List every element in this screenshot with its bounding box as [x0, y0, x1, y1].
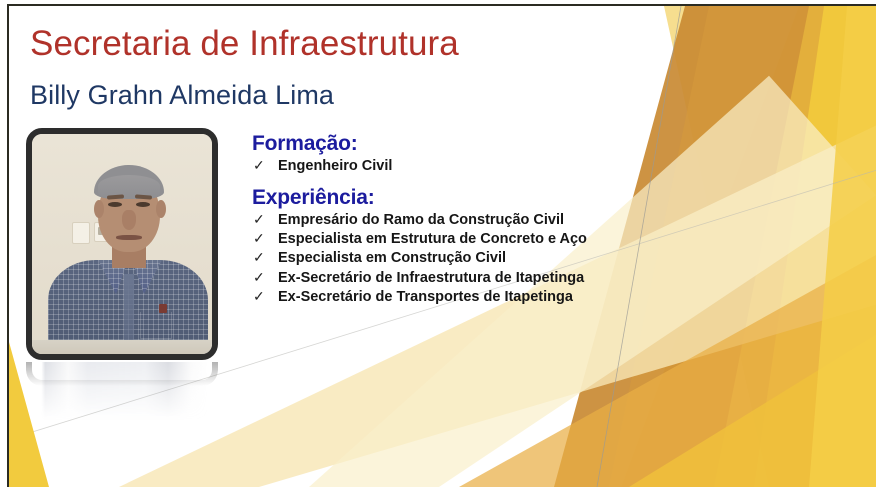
slide-root: Secretaria de Infraestrutura Billy Grahn…	[0, 0, 877, 487]
list-item-label: Engenheiro Civil	[278, 158, 392, 174]
reflection-body	[26, 362, 218, 420]
list-item-label: Especialista em Estrutura de Concreto e …	[278, 231, 587, 247]
check-icon: ✓	[253, 210, 265, 229]
list-item: ✓ Especialista em Construção Civil	[252, 249, 652, 268]
portrait-photo-reflection	[26, 362, 218, 420]
formacao-list: ✓ Engenheiro Civil	[252, 157, 652, 176]
shirt-pocket	[140, 312, 172, 339]
check-icon: ✓	[253, 156, 265, 175]
section-heading-experiencia: Experiência:	[252, 186, 652, 209]
list-item: ✓ Ex-Secretário de Transportes de Itapet…	[252, 288, 652, 307]
desk-surface	[32, 340, 212, 354]
shirt-logo	[159, 304, 167, 313]
portrait-photo-image	[32, 134, 212, 354]
list-item-label: Ex-Secretário de Transportes de Itapetin…	[278, 289, 573, 305]
check-icon: ✓	[253, 229, 265, 248]
experiencia-list: ✓ Empresário do Ramo da Construção Civil…	[252, 211, 652, 308]
list-item: ✓ Empresário do Ramo da Construção Civil	[252, 211, 652, 230]
list-item-label: Empresário do Ramo da Construção Civil	[278, 212, 564, 228]
list-item-label: Especialista em Construção Civil	[278, 250, 506, 266]
section-heading-formacao: Formação:	[252, 132, 652, 155]
nose-shape	[122, 210, 136, 230]
facet-yellow-edge	[809, 6, 876, 487]
credentials-content: Formação: ✓ Engenheiro Civil Experiência…	[252, 132, 652, 308]
person-name: Billy Grahn Almeida Lima	[30, 80, 334, 111]
reflection-frame	[26, 362, 218, 386]
facet-yellow-lower	[629, 335, 876, 487]
list-item: ✓ Ex-Secretário de Infraestrutura de Ita…	[252, 269, 652, 288]
slide-canvas: Secretaria de Infraestrutura Billy Grahn…	[7, 4, 876, 487]
wall-switch-icon	[72, 222, 90, 244]
ear-left	[94, 200, 104, 218]
check-icon: ✓	[253, 287, 265, 306]
list-item-label: Ex-Secretário de Infraestrutura de Itape…	[278, 270, 584, 286]
mouth-shape	[116, 235, 142, 240]
eye-right	[136, 202, 150, 207]
facet-yellow-mid	[664, 6, 876, 487]
hair-shape	[94, 165, 164, 199]
check-icon: ✓	[253, 248, 265, 267]
corner-accent-wedge	[9, 342, 49, 487]
list-item: ✓ Engenheiro Civil	[252, 157, 652, 176]
eye-left	[108, 202, 122, 207]
list-item: ✓ Especialista em Estrutura de Concreto …	[252, 230, 652, 249]
ear-right	[156, 200, 166, 218]
facet-yellow-right	[621, 6, 876, 487]
check-icon: ✓	[253, 268, 265, 287]
portrait-photo	[26, 128, 218, 360]
page-title: Secretaria de Infraestrutura	[30, 24, 459, 64]
